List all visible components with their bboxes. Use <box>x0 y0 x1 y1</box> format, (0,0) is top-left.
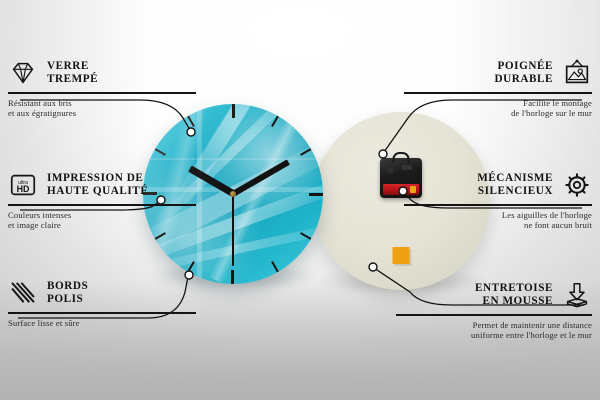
feature-description: Permet de maintenir une distanceuniforme… <box>396 320 592 341</box>
divider <box>396 314 592 316</box>
feature-title: POIGNÉEDURABLE <box>494 60 553 85</box>
feature-title: IMPRESSION DEHAUTE QUALITÉ <box>47 172 148 197</box>
divider <box>404 92 592 94</box>
feature-header: ultra HD IMPRESSION DEHAUTE QUALITÉ <box>8 170 196 200</box>
polished-edges-icon <box>8 278 38 308</box>
feature-mecanisme-silencieux[interactable]: MÉCANISMESILENCIEUX Les aiguilles de l'h… <box>404 170 592 230</box>
feature-description: Facilite le montagede l'horloge sur le m… <box>404 98 592 119</box>
divider <box>404 204 592 206</box>
feature-header: POIGNÉEDURABLE <box>404 58 592 88</box>
clock-center-pin <box>230 191 236 197</box>
feature-header: VERRETREMPÉ <box>8 58 196 88</box>
ultra-hd-icon: ultra HD <box>8 170 38 200</box>
feature-title: BORDSPOLIS <box>47 280 88 305</box>
clock-tick <box>233 193 323 195</box>
feature-bords-polis[interactable]: BORDSPOLIS Surface lisse et sûre <box>8 278 196 328</box>
gear-icon <box>562 170 592 200</box>
feature-verre-trempe[interactable]: VERRETREMPÉ Résistant aux briset aux égr… <box>8 58 196 118</box>
diamond-icon <box>8 58 38 88</box>
feature-description: Résistant aux briset aux égratignures <box>8 98 196 119</box>
feature-description: Couleurs intenseset image claire <box>8 210 196 231</box>
divider <box>8 92 196 94</box>
feature-title: ENTRETOISEEN MOUSSE <box>475 282 553 307</box>
movement-detail-dot <box>387 167 394 174</box>
feature-description: Surface lisse et sûre <box>8 318 196 328</box>
feature-description: Les aiguilles de l'horlogene font aucun … <box>404 210 592 231</box>
feature-poignee-durable[interactable]: POIGNÉEDURABLE Facilite le montagede l'h… <box>404 58 592 118</box>
foam-spacer-icon <box>562 280 592 310</box>
clock-tick <box>232 104 234 194</box>
feature-header: ENTRETOISEEN MOUSSE <box>396 280 592 310</box>
feature-entretoise-en-mousse[interactable]: ENTRETOISEEN MOUSSE Permet de maintenir … <box>396 280 592 340</box>
feature-impression-haute-qualite[interactable]: ultra HD IMPRESSION DEHAUTE QUALITÉ Coul… <box>8 170 196 230</box>
picture-hanger-icon <box>562 58 592 88</box>
infographic-canvas: VERRETREMPÉ Résistant aux briset aux égr… <box>0 0 600 400</box>
feature-header: BORDSPOLIS <box>8 278 196 308</box>
divider <box>8 312 196 314</box>
divider <box>8 204 196 206</box>
feature-title: VERRETREMPÉ <box>47 60 98 85</box>
feature-header: MÉCANISMESILENCIEUX <box>404 170 592 200</box>
feature-title: MÉCANISMESILENCIEUX <box>477 172 553 197</box>
foam-spacer <box>393 247 410 264</box>
clock-second-hand <box>231 194 235 266</box>
svg-text:HD: HD <box>17 184 30 194</box>
